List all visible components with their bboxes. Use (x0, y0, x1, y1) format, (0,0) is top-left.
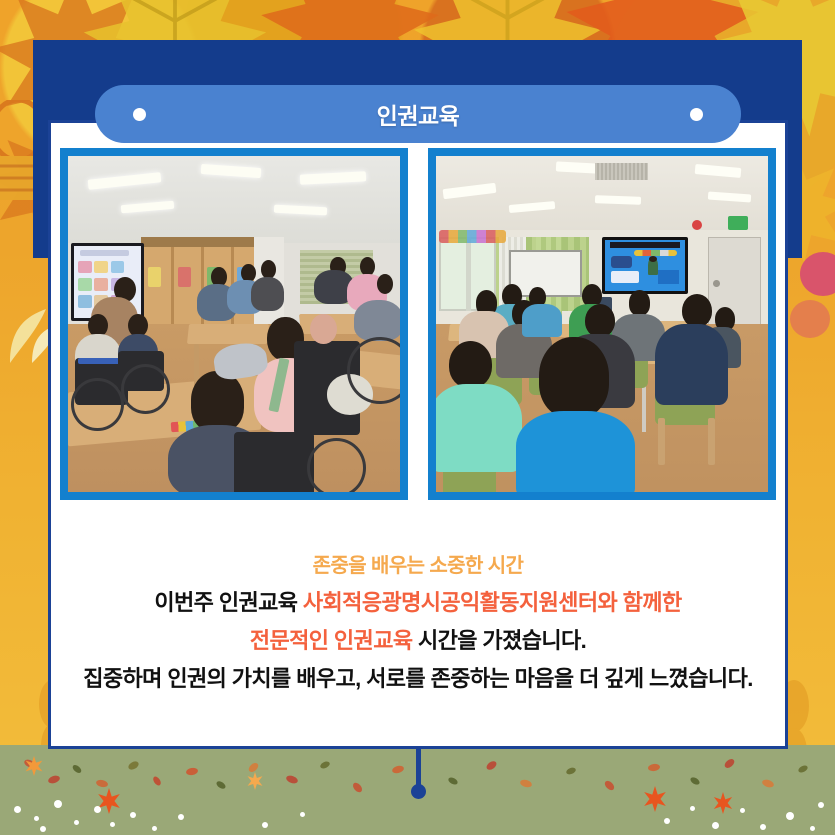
ac-vent (595, 163, 648, 180)
caption-line-2-plain: 이번주 인권교육 (154, 590, 303, 615)
slide-tile (78, 295, 91, 308)
signpost-cap (411, 784, 426, 799)
sparkle-dot (760, 824, 766, 830)
sparkle-dot (14, 806, 21, 813)
caption-block: 존중을 배우는 소중한 시간 이번주 인권교육 사회적응광명시공익활동지원센터와… (48, 556, 788, 690)
slide-title-bar (80, 250, 130, 256)
garland-decoration (439, 230, 505, 243)
photo-audience-watching-screen[interactable] (428, 148, 776, 500)
page-title: 인권교육 (377, 97, 460, 131)
cabinet-label (148, 267, 161, 287)
door-handle (713, 280, 720, 287)
slide-tile (78, 261, 91, 274)
caption-line-2: 이번주 인권교육 사회적응광명시공익활동지원센터와 함께한 (48, 592, 788, 614)
chair-leg (658, 418, 665, 465)
cabinet-divider (171, 243, 174, 330)
caption-line-3: 전문적인 인권교육 시간을 가졌습니다. (48, 630, 788, 652)
tv-illustration (611, 256, 632, 268)
star-leaf-icon (712, 792, 734, 819)
sparkle-dot (40, 826, 46, 832)
photo-gallery (60, 148, 776, 500)
tv-title-bar (610, 242, 681, 248)
wheelchair-wheel (71, 378, 123, 431)
caption-line-3-plain: 시간을 가졌습니다. (412, 628, 586, 653)
sparkle-dot (74, 820, 79, 825)
person-body (436, 384, 522, 471)
sparkle-dot (110, 822, 115, 827)
star-leaf-icon (246, 772, 264, 795)
table (186, 324, 268, 344)
person-head (310, 314, 337, 344)
chair-leg (708, 418, 715, 465)
slide-tile (94, 278, 107, 291)
wheelchair-frame (234, 432, 314, 492)
person-head (585, 304, 615, 338)
wheelchair-wheel (307, 438, 366, 492)
person-head (682, 294, 712, 328)
tv-caption-box (611, 271, 638, 282)
fire-alarm-icon (692, 220, 702, 230)
tv-content (605, 240, 685, 291)
sparkle-dot (54, 800, 62, 808)
star-leaf-icon (24, 756, 44, 781)
sparkle-dot (34, 816, 39, 821)
tv-icon-row (634, 250, 677, 256)
wheelchair-wheel (121, 364, 170, 414)
person-body (516, 411, 636, 492)
cabinet-top-band (141, 237, 254, 247)
tv-step-block (658, 270, 679, 283)
title-banner: 인권교육 (95, 85, 741, 143)
banner-dot-right-icon (690, 108, 703, 121)
exit-sign-icon (728, 216, 748, 229)
slide-tile (94, 261, 107, 274)
tv-screen (602, 237, 688, 294)
caption-line-1: 존중을 배우는 소중한 시간 (48, 556, 788, 576)
person-head (629, 290, 651, 315)
sparkle-dot (690, 806, 695, 811)
sparkle-dot (130, 812, 136, 818)
sparkle-dot (300, 812, 305, 817)
banner-dot-left-icon (133, 108, 146, 121)
caption-line-3-highlight: 전문적인 인권교육 (250, 628, 413, 653)
slide-tile (111, 261, 124, 274)
sparkle-dot (712, 822, 719, 829)
cabinet-label (178, 267, 191, 287)
person-body (251, 277, 284, 311)
person-head (377, 274, 394, 294)
person-head (539, 337, 609, 418)
sparkle-dot (810, 826, 815, 831)
caption-line-2-highlight: 사회적응광명시공익활동지원센터와 함께한 (303, 590, 682, 615)
sparkle-dot (740, 808, 745, 813)
apple-icon (790, 300, 830, 338)
sparkle-dot (786, 812, 794, 820)
wheelchair-armrest (78, 358, 121, 365)
person-body (522, 304, 562, 338)
sparkle-dot (178, 814, 184, 820)
sparkle-dot (94, 806, 101, 813)
person-head (449, 341, 492, 388)
caption-line-4: 집중하며 인권의 가치를 배우고, 서로를 존중하는 마음을 더 깊게 느꼈습니… (48, 668, 788, 690)
photo-classroom-wheelchairs[interactable] (60, 148, 408, 500)
sparkle-dot (818, 802, 824, 808)
sparkle-dot (152, 826, 157, 831)
person-head (191, 371, 244, 431)
sparkle-dot (664, 818, 670, 824)
photo-1-content (68, 156, 400, 492)
star-leaf-icon (96, 788, 122, 819)
person-head (360, 257, 375, 276)
star-leaf-icon (642, 786, 668, 817)
photo-2-content (436, 156, 768, 492)
person-body (354, 300, 400, 340)
window-mullion (466, 237, 471, 311)
slide-tile (78, 278, 91, 291)
poster-canvas: 인권교육 (0, 0, 835, 835)
person-body (655, 324, 728, 405)
sparkle-dot (262, 822, 268, 828)
